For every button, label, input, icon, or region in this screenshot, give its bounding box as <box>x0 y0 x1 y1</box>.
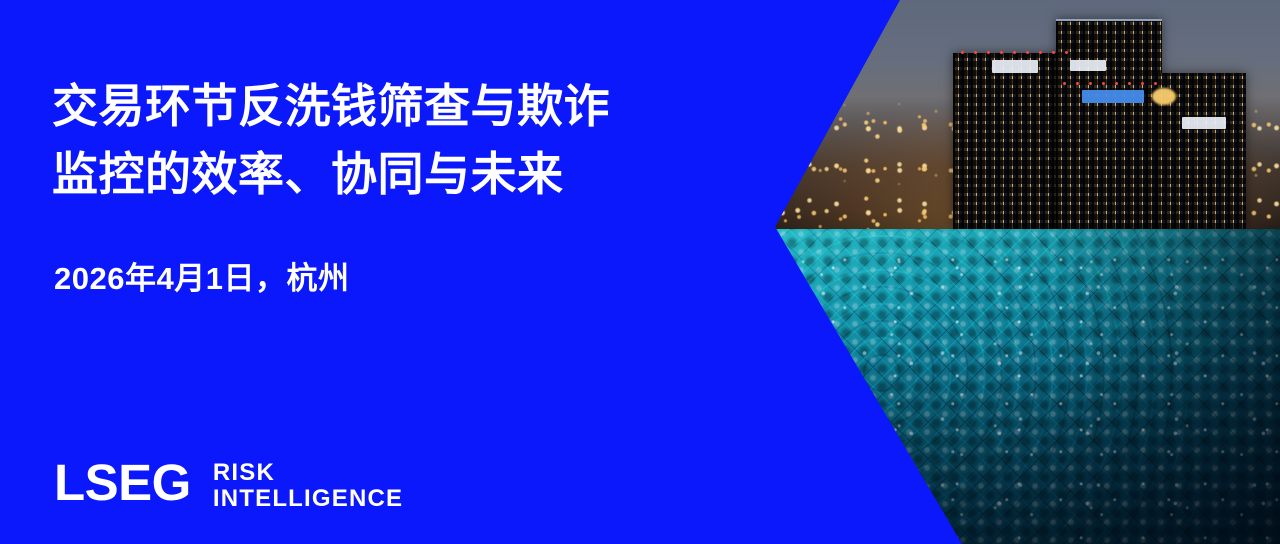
lseg-risk-intelligence-logo: LSEG RISK INTELLIGENCE <box>54 457 403 512</box>
banner-content: 交易环节反洗钱筛查与欺诈 监控的效率、协同与未来 2026年4月1日，杭州 LS… <box>0 0 1280 544</box>
title-line-2: 监控的效率、协同与未来 <box>52 140 742 208</box>
event-banner: 交易环节反洗钱筛查与欺诈 监控的效率、协同与未来 2026年4月1日，杭州 LS… <box>0 0 1280 544</box>
lseg-wordmark: LSEG <box>54 457 191 508</box>
logo-subtitle-line-1: RISK <box>213 460 403 486</box>
logo-subtitle: RISK INTELLIGENCE <box>213 460 403 512</box>
page-title: 交易环节反洗钱筛查与欺诈 监控的效率、协同与未来 <box>52 72 742 208</box>
title-line-1: 交易环节反洗钱筛查与欺诈 <box>52 72 742 140</box>
event-date-location: 2026年4月1日，杭州 <box>54 253 349 298</box>
logo-subtitle-line-2: INTELLIGENCE <box>213 486 403 512</box>
